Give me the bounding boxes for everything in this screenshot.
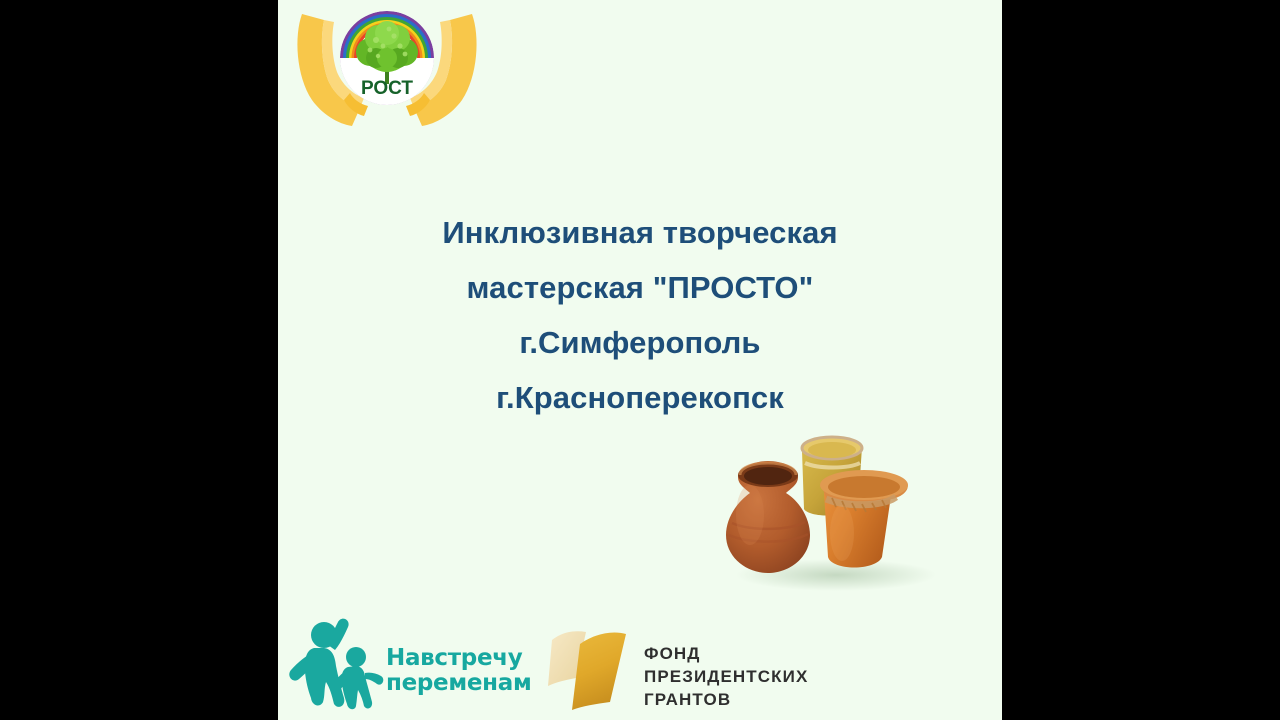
rost-logo: РОСТ [290, 0, 485, 136]
nav-text-line-1: Навстречу [386, 646, 531, 671]
navstrechu-peremenam-logo: Навстречу переменам [286, 618, 536, 718]
grants-mark-gold [572, 632, 626, 710]
rost-wordmark: РОСТ [361, 78, 413, 99]
footer-logos: Навстречу переменам [278, 610, 1002, 720]
navstrechu-peremenam-text: Навстречу переменам [386, 646, 531, 696]
slide-stage: РОСТ Инклюзивная творческая мастерская "… [0, 0, 1280, 720]
title-line-2: мастерская "ПРОСТО" [278, 260, 1002, 315]
orange-terracotta-pot [820, 470, 908, 568]
grants-fund-text: ФОНД ПРЕЗИДЕНТСКИХ ГРАНТОВ [644, 642, 808, 711]
presidential-grants-fund-logo: ФОНД ПРЕЗИДЕНТСКИХ ГРАНТОВ [546, 616, 846, 716]
clay-pottery-photo [706, 415, 966, 595]
slide-title: Инклюзивная творческая мастерская "ПРОСТ… [278, 205, 1002, 425]
grant-text-line-2: ПРЕЗИДЕНТСКИХ [644, 665, 808, 688]
grant-text-line-3: ГРАНТОВ [644, 688, 808, 711]
slide-canvas: РОСТ Инклюзивная творческая мастерская "… [278, 0, 1002, 720]
two-figures-icon [286, 618, 384, 714]
grant-text-line-1: ФОНД [644, 642, 808, 665]
title-line-3: г.Симферополь [278, 315, 1002, 370]
dark-clay-jug [726, 461, 810, 573]
grants-fund-mark-icon [546, 622, 638, 710]
title-line-1: Инклюзивная творческая [278, 205, 1002, 260]
nav-text-line-2: переменам [386, 671, 531, 696]
